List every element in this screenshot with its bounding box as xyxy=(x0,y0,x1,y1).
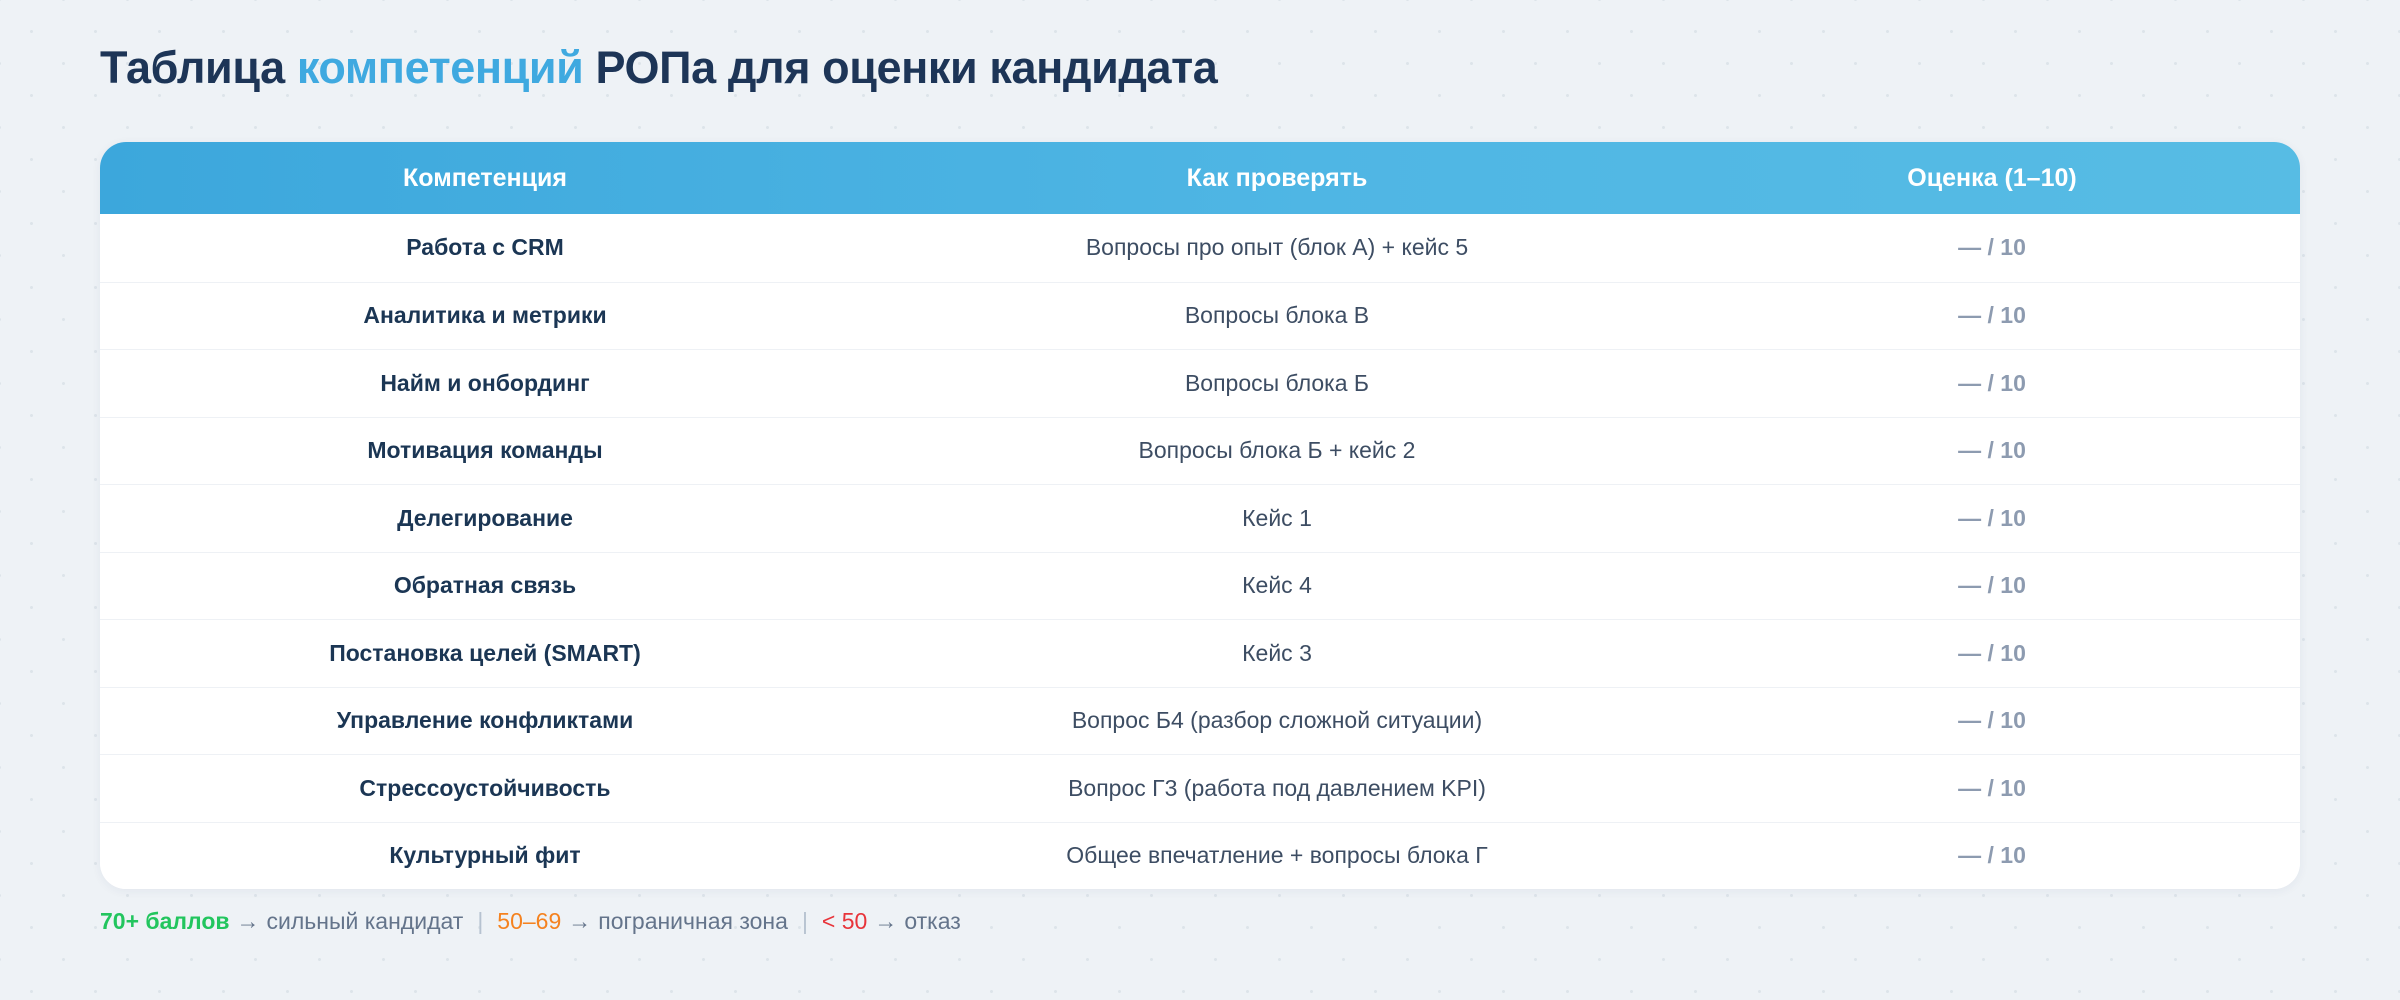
cell-score[interactable]: — / 10 xyxy=(1684,437,2300,464)
table-row: Управление конфликтамиВопрос Б4 (разбор … xyxy=(100,687,2300,755)
cell-competency: Управление конфликтами xyxy=(100,707,870,734)
legend-separator-2: | xyxy=(788,908,822,935)
competency-table: Компетенция Как проверять Оценка (1–10) … xyxy=(100,142,2300,889)
cell-score[interactable]: — / 10 xyxy=(1684,707,2300,734)
cell-score[interactable]: — / 10 xyxy=(1684,234,2300,261)
cell-competency: Аналитика и метрики xyxy=(100,302,870,329)
page-title-part-2: РОПа для оценки кандидата xyxy=(583,42,1217,93)
cell-competency: Работа с CRM xyxy=(100,234,870,261)
column-header-score: Оценка (1–10) xyxy=(1684,164,2300,193)
cell-method: Вопросы блока Б + кейс 2 xyxy=(870,437,1684,464)
cell-competency: Культурный фит xyxy=(100,842,870,869)
cell-method: Кейс 4 xyxy=(870,572,1684,599)
cell-method: Вопрос Б4 (разбор сложной ситуации) xyxy=(870,707,1684,734)
cell-competency: Мотивация команды xyxy=(100,437,870,464)
legend-strong-score: 70+ баллов xyxy=(100,908,230,935)
table-row: ДелегированиеКейс 1— / 10 xyxy=(100,484,2300,552)
cell-competency: Делегирование xyxy=(100,505,870,532)
page-title-part-1: Таблица xyxy=(100,42,297,93)
table-row: Мотивация командыВопросы блока Б + кейс … xyxy=(100,417,2300,485)
page-title: Таблица компетенций РОПа для оценки канд… xyxy=(100,42,1217,94)
table-row: Работа с CRMВопросы про опыт (блок А) + … xyxy=(100,214,2300,282)
legend-low-score: < 50 xyxy=(822,908,867,935)
legend-low-label: отказ xyxy=(904,908,960,935)
legend-mid-score: 50–69 xyxy=(497,908,561,935)
legend-arrow-low-icon: → xyxy=(867,908,904,935)
column-header-method: Как проверять xyxy=(870,164,1684,193)
cell-score[interactable]: — / 10 xyxy=(1684,640,2300,667)
cell-method: Общее впечатление + вопросы блока Г xyxy=(870,842,1684,869)
legend-arrow-strong-icon: → xyxy=(230,908,267,935)
page-container: Таблица компетенций РОПа для оценки канд… xyxy=(0,0,2400,1000)
cell-score[interactable]: — / 10 xyxy=(1684,505,2300,532)
legend-arrow-mid-icon: → xyxy=(561,908,598,935)
cell-score[interactable]: — / 10 xyxy=(1684,302,2300,329)
cell-competency: Постановка целей (SMART) xyxy=(100,640,870,667)
cell-score[interactable]: — / 10 xyxy=(1684,775,2300,802)
cell-competency: Стрессоустойчивость xyxy=(100,775,870,802)
cell-method: Вопросы блока Б xyxy=(870,370,1684,397)
table-row: Найм и онбордингВопросы блока Б— / 10 xyxy=(100,349,2300,417)
table-header-row: Компетенция Как проверять Оценка (1–10) xyxy=(100,142,2300,214)
cell-method: Вопросы блока В xyxy=(870,302,1684,329)
column-header-competency: Компетенция xyxy=(100,164,870,193)
table-row: Обратная связьКейс 4— / 10 xyxy=(100,552,2300,620)
cell-method: Кейс 3 xyxy=(870,640,1684,667)
cell-competency: Обратная связь xyxy=(100,572,870,599)
table-row: Аналитика и метрикиВопросы блока В— / 10 xyxy=(100,282,2300,350)
score-legend: 70+ баллов → сильный кандидат | 50–69 → … xyxy=(100,908,961,935)
table-row: Культурный фитОбщее впечатление + вопрос… xyxy=(100,822,2300,890)
cell-competency: Найм и онбординг xyxy=(100,370,870,397)
cell-method: Вопросы про опыт (блок А) + кейс 5 xyxy=(870,234,1684,261)
table-body: Работа с CRMВопросы про опыт (блок А) + … xyxy=(100,214,2300,889)
cell-score[interactable]: — / 10 xyxy=(1684,370,2300,397)
legend-mid-label: пограничная зона xyxy=(598,908,788,935)
cell-score[interactable]: — / 10 xyxy=(1684,572,2300,599)
table-row: СтрессоустойчивостьВопрос Г3 (работа под… xyxy=(100,754,2300,822)
page-title-highlight: компетенций xyxy=(297,42,584,93)
cell-method: Вопрос Г3 (работа под давлением KPI) xyxy=(870,775,1684,802)
legend-separator-1: | xyxy=(463,908,497,935)
cell-score[interactable]: — / 10 xyxy=(1684,842,2300,869)
legend-strong-label: сильный кандидат xyxy=(267,908,464,935)
table-row: Постановка целей (SMART)Кейс 3— / 10 xyxy=(100,619,2300,687)
cell-method: Кейс 1 xyxy=(870,505,1684,532)
